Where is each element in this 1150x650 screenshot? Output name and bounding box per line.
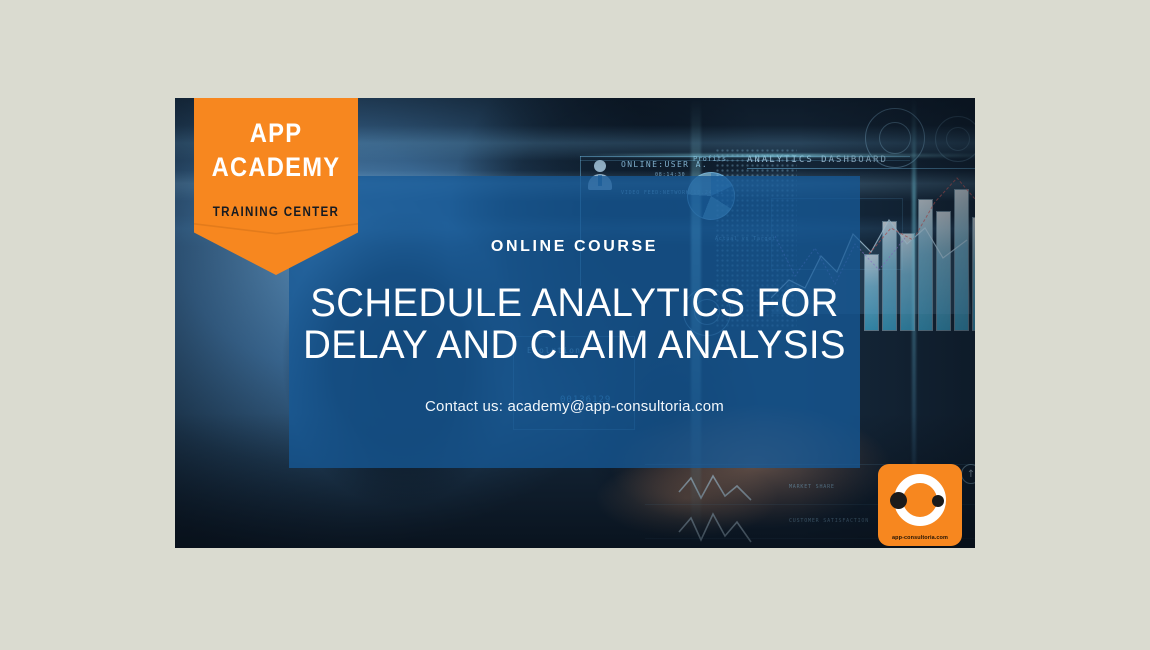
course-headline-line1: SCHEDULE ANALYTICS FOR xyxy=(300,282,848,324)
screenshot-canvas: ONLINE:USER A. 08:14:30 VIDEO FEED:NETWO… xyxy=(0,0,1150,650)
course-headline-line2: DELAY AND CLAIM ANALYSIS xyxy=(300,324,848,366)
ribbon-title-line2: ACADEMY xyxy=(204,150,348,184)
course-info-card: ONLINE COURSE SCHEDULE ANALYTICS FOR DEL… xyxy=(289,176,860,468)
logo-url-text: app-consultoria.com xyxy=(878,535,962,541)
ribbon-title-line1: APP xyxy=(204,116,348,150)
logo-dot-left xyxy=(890,492,907,509)
course-banner-image: ONLINE:USER A. 08:14:30 VIDEO FEED:NETWO… xyxy=(175,98,975,548)
ribbon-subtitle: TRAINING CENTER xyxy=(205,204,346,219)
logo-dot-right xyxy=(932,495,944,507)
app-consultoria-logo: app-consultoria.com xyxy=(878,464,962,546)
ribbon-inner-chevron xyxy=(194,223,358,239)
course-kicker: ONLINE COURSE xyxy=(289,238,860,256)
contact-text: Contact us: academy@app-consultoria.com xyxy=(289,398,860,415)
